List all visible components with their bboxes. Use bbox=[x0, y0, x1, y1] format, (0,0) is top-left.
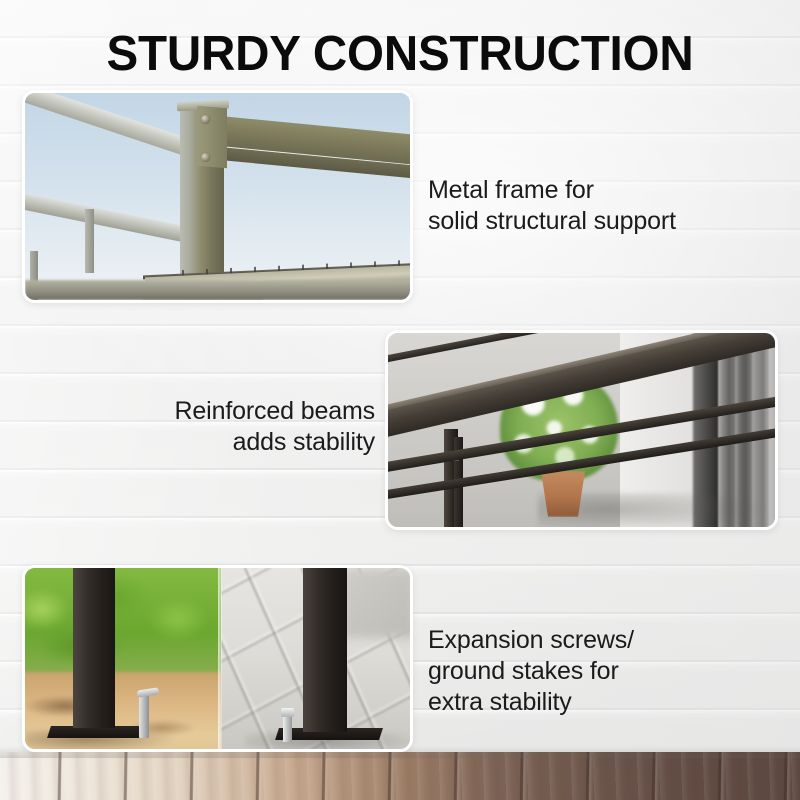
post-on-soil bbox=[73, 568, 115, 728]
photo-metal-frame bbox=[25, 93, 410, 300]
feature-image-reinforced-beams bbox=[385, 330, 778, 530]
page-title: STURDY CONSTRUCTION bbox=[12, 28, 788, 80]
photo-reinforced-beams bbox=[388, 333, 775, 527]
post-on-paver bbox=[303, 568, 347, 732]
feature-image-anchoring bbox=[22, 565, 413, 752]
wood-deck-grain bbox=[0, 752, 800, 800]
feature-image-metal-frame bbox=[22, 90, 413, 303]
background-blur bbox=[341, 568, 410, 638]
photo-anchoring bbox=[25, 568, 410, 749]
distant-ground bbox=[25, 280, 410, 300]
feature-caption-metal-frame: Metal frame for solid structural support bbox=[428, 175, 758, 237]
expansion-screw-head bbox=[281, 708, 294, 717]
bolt-icon bbox=[201, 115, 210, 124]
ground-stake-icon bbox=[139, 692, 149, 738]
feature-caption-anchoring: Expansion screws/ ground stakes for extr… bbox=[428, 625, 768, 718]
grass-background bbox=[25, 568, 221, 680]
bolt-icon bbox=[201, 153, 210, 162]
expansion-screw-icon bbox=[283, 714, 292, 742]
feature-caption-reinforced-beams: Reinforced beams adds stability bbox=[45, 396, 375, 458]
vertical-rail-1 bbox=[85, 209, 94, 273]
soil-scene bbox=[25, 568, 221, 749]
product-feature-poster: STURDY CONSTRUCTION Metal frame for soli… bbox=[0, 0, 800, 800]
split-seam bbox=[218, 568, 222, 749]
